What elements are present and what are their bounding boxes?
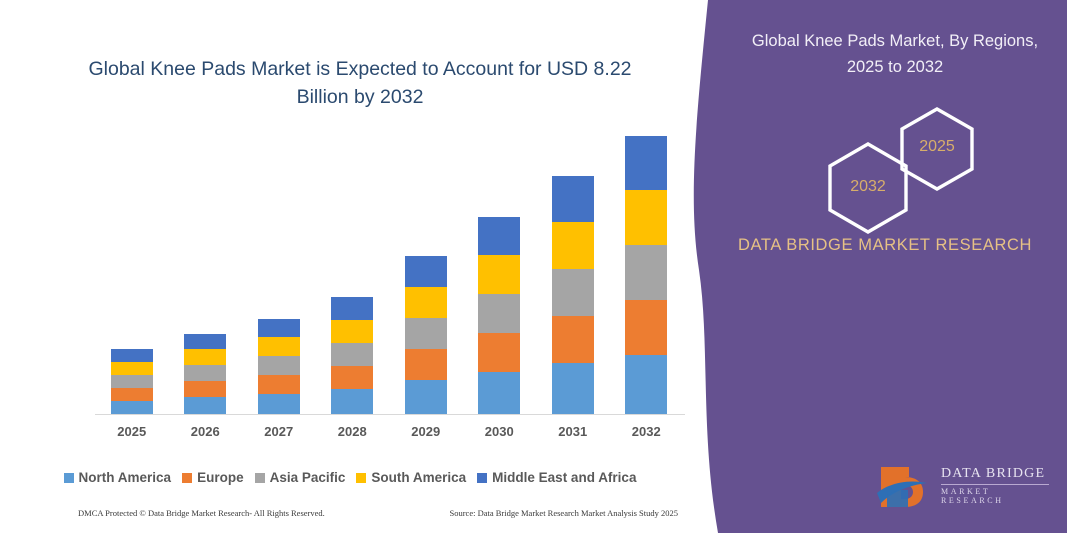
logo-text-block: DATA BRIDGE MARKET RESEARCH [941, 466, 1055, 505]
legend-label: Asia Pacific [270, 470, 346, 485]
legend-item-south-america[interactable]: South America [356, 470, 466, 485]
brand-name: DATA BRIDGE MARKET RESEARCH [735, 232, 1035, 259]
bar-segment-middle-east-and-africa [184, 334, 226, 349]
bar-2032 [625, 136, 667, 414]
bar-segment-asia-pacific [111, 375, 153, 388]
bar-segment-south-america [625, 190, 667, 245]
bar-segment-north-america [405, 380, 447, 414]
bar-segment-south-america [111, 362, 153, 375]
bar-segment-asia-pacific [478, 294, 520, 333]
bar-segment-europe [184, 381, 226, 397]
bar-segment-south-america [331, 320, 373, 343]
footer: DMCA Protected © Data Bridge Market Rese… [78, 508, 678, 518]
bar-segment-middle-east-and-africa [111, 349, 153, 362]
bar-segment-europe [111, 388, 153, 401]
bar-segment-europe [478, 333, 520, 372]
legend-swatch-icon [255, 473, 265, 483]
bar-segment-middle-east-and-africa [405, 256, 447, 287]
legend-swatch-icon [64, 473, 74, 483]
x-axis-label-2032: 2032 [611, 424, 681, 439]
logo-mark-icon [875, 463, 937, 513]
bar-2025 [111, 349, 153, 414]
bar-segment-asia-pacific [625, 245, 667, 300]
brand-panel: Global Knee Pads Market, By Regions, 202… [690, 0, 1067, 533]
bar-segment-europe [405, 349, 447, 380]
x-axis-label-2028: 2028 [317, 424, 387, 439]
bar-segment-asia-pacific [405, 318, 447, 349]
bar-segment-north-america [258, 394, 300, 414]
chart-title: Global Knee Pads Market is Expected to A… [60, 55, 660, 111]
bar-segment-middle-east-and-africa [625, 136, 667, 190]
hexagon-label-2025: 2025 [895, 138, 979, 156]
legend-swatch-icon [477, 473, 487, 483]
bar-segment-north-america [625, 355, 667, 414]
bar-segment-south-america [184, 349, 226, 365]
bar-segment-south-america [405, 287, 447, 318]
bar-2026 [184, 334, 226, 414]
bar-2027 [258, 319, 300, 414]
bar-2030 [478, 217, 520, 414]
bar-segment-middle-east-and-africa [258, 319, 300, 337]
legend-label: North America [79, 470, 172, 485]
data-bridge-logo: DATA BRIDGE MARKET RESEARCH [875, 463, 1055, 515]
infographic-page: Global Knee Pads Market is Expected to A… [0, 0, 1067, 533]
bar-segment-middle-east-and-africa [552, 176, 594, 222]
bar-segment-europe [258, 375, 300, 394]
legend-item-middle-east-and-africa[interactable]: Middle East and Africa [477, 470, 636, 485]
x-axis-line [95, 414, 685, 415]
bar-segment-north-america [111, 401, 153, 414]
legend-swatch-icon [356, 473, 366, 483]
bar-segment-north-america [331, 389, 373, 414]
x-axis-label-2029: 2029 [391, 424, 461, 439]
bar-segment-asia-pacific [184, 365, 226, 381]
bar-2028 [331, 297, 373, 414]
footer-source-note: Source: Data Bridge Market Research Mark… [449, 508, 678, 518]
bar-segment-middle-east-and-africa [331, 297, 373, 320]
legend-item-europe[interactable]: Europe [182, 470, 244, 485]
chart-panel: Global Knee Pads Market is Expected to A… [0, 0, 710, 533]
bar-segment-europe [625, 300, 667, 355]
hexagon-badge-2025: 2025 [895, 105, 979, 198]
logo-title: DATA BRIDGE [941, 466, 1055, 482]
bar-2029 [405, 256, 447, 414]
legend-swatch-icon [182, 473, 192, 483]
footer-dmca-notice: DMCA Protected © Data Bridge Market Rese… [78, 508, 325, 518]
bar-segment-south-america [552, 222, 594, 269]
x-axis-label-2025: 2025 [97, 424, 167, 439]
logo-subtitle: MARKET RESEARCH [941, 487, 1055, 505]
bar-segment-asia-pacific [552, 269, 594, 316]
legend-label: Middle East and Africa [492, 470, 636, 485]
x-axis-label-2030: 2030 [464, 424, 534, 439]
bar-segment-europe [552, 316, 594, 363]
bar-segment-south-america [478, 255, 520, 294]
bar-segment-north-america [552, 363, 594, 414]
bar-segment-asia-pacific [331, 343, 373, 366]
legend-item-asia-pacific[interactable]: Asia Pacific [255, 470, 346, 485]
bar-segment-south-america [258, 337, 300, 356]
bar-segment-north-america [478, 372, 520, 414]
legend-label: South America [371, 470, 466, 485]
bar-segment-europe [331, 366, 373, 389]
bar-2031 [552, 176, 594, 414]
legend-label: Europe [197, 470, 244, 485]
x-axis-label-2027: 2027 [244, 424, 314, 439]
panel-heading: Global Knee Pads Market, By Regions, 202… [750, 28, 1040, 80]
legend-item-north-america[interactable]: North America [64, 470, 172, 485]
chart-legend: North AmericaEuropeAsia PacificSouth Ame… [0, 470, 700, 485]
bar-segment-asia-pacific [258, 356, 300, 375]
logo-divider [941, 484, 1049, 485]
x-axis-label-2031: 2031 [538, 424, 608, 439]
bar-segment-middle-east-and-africa [478, 217, 520, 255]
bar-segment-north-america [184, 397, 226, 414]
x-axis-label-2026: 2026 [170, 424, 240, 439]
